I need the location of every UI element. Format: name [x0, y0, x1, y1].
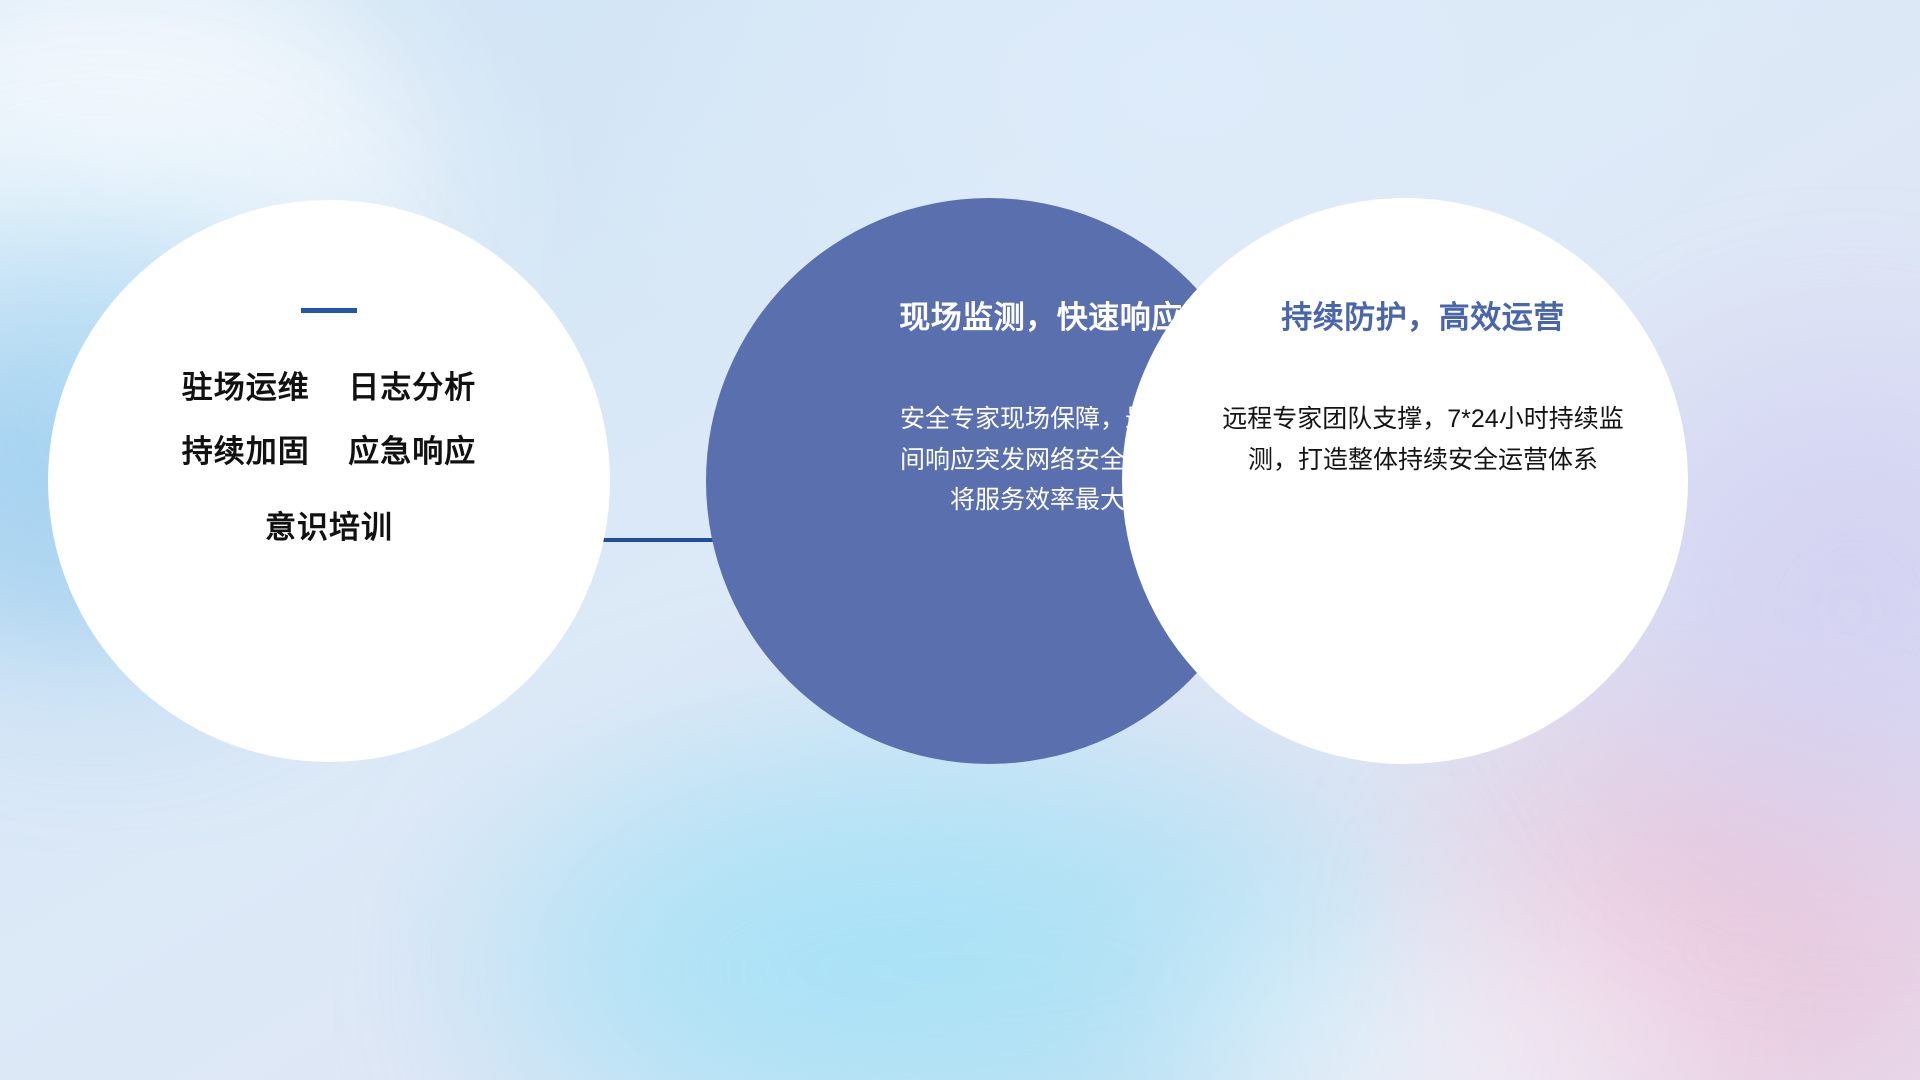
- left-circle-line-3: 意识培训: [265, 511, 393, 545]
- left-circle-line-1: 驻场运维 日志分析: [182, 371, 476, 405]
- left-circle-line-2: 持续加固 应急响应: [182, 435, 476, 469]
- background-glow-bottom-right: [1480, 760, 1920, 1080]
- right-circle-title: 持续防护，高效运营: [1281, 292, 1565, 337]
- right-circle-content: 持续防护，高效运营 远程专家团队支撑，7*24小时持续监测，打造整体持续安全运营…: [1122, 198, 1688, 764]
- left-circle-divider: [301, 308, 357, 313]
- left-circle-content: 驻场运维 日志分析 持续加固 应急响应 意识培训: [48, 200, 610, 762]
- background-glow-bottom-center: [520, 760, 1420, 1080]
- capability-circle-left: 驻场运维 日志分析 持续加固 应急响应 意识培训: [48, 200, 610, 762]
- right-circle-body: 远程专家团队支撑，7*24小时持续监测，打造整体持续安全运营体系: [1213, 399, 1633, 480]
- slide-canvas: 驻场运维 日志分析 持续加固 应急响应 意识培训 现场监测，快速响应 安全专家现…: [0, 0, 1920, 1080]
- capability-circle-right: 持续防护，高效运营 远程专家团队支撑，7*24小时持续监测，打造整体持续安全运营…: [1122, 198, 1688, 764]
- background-glow-bottom: [1180, 900, 1700, 1080]
